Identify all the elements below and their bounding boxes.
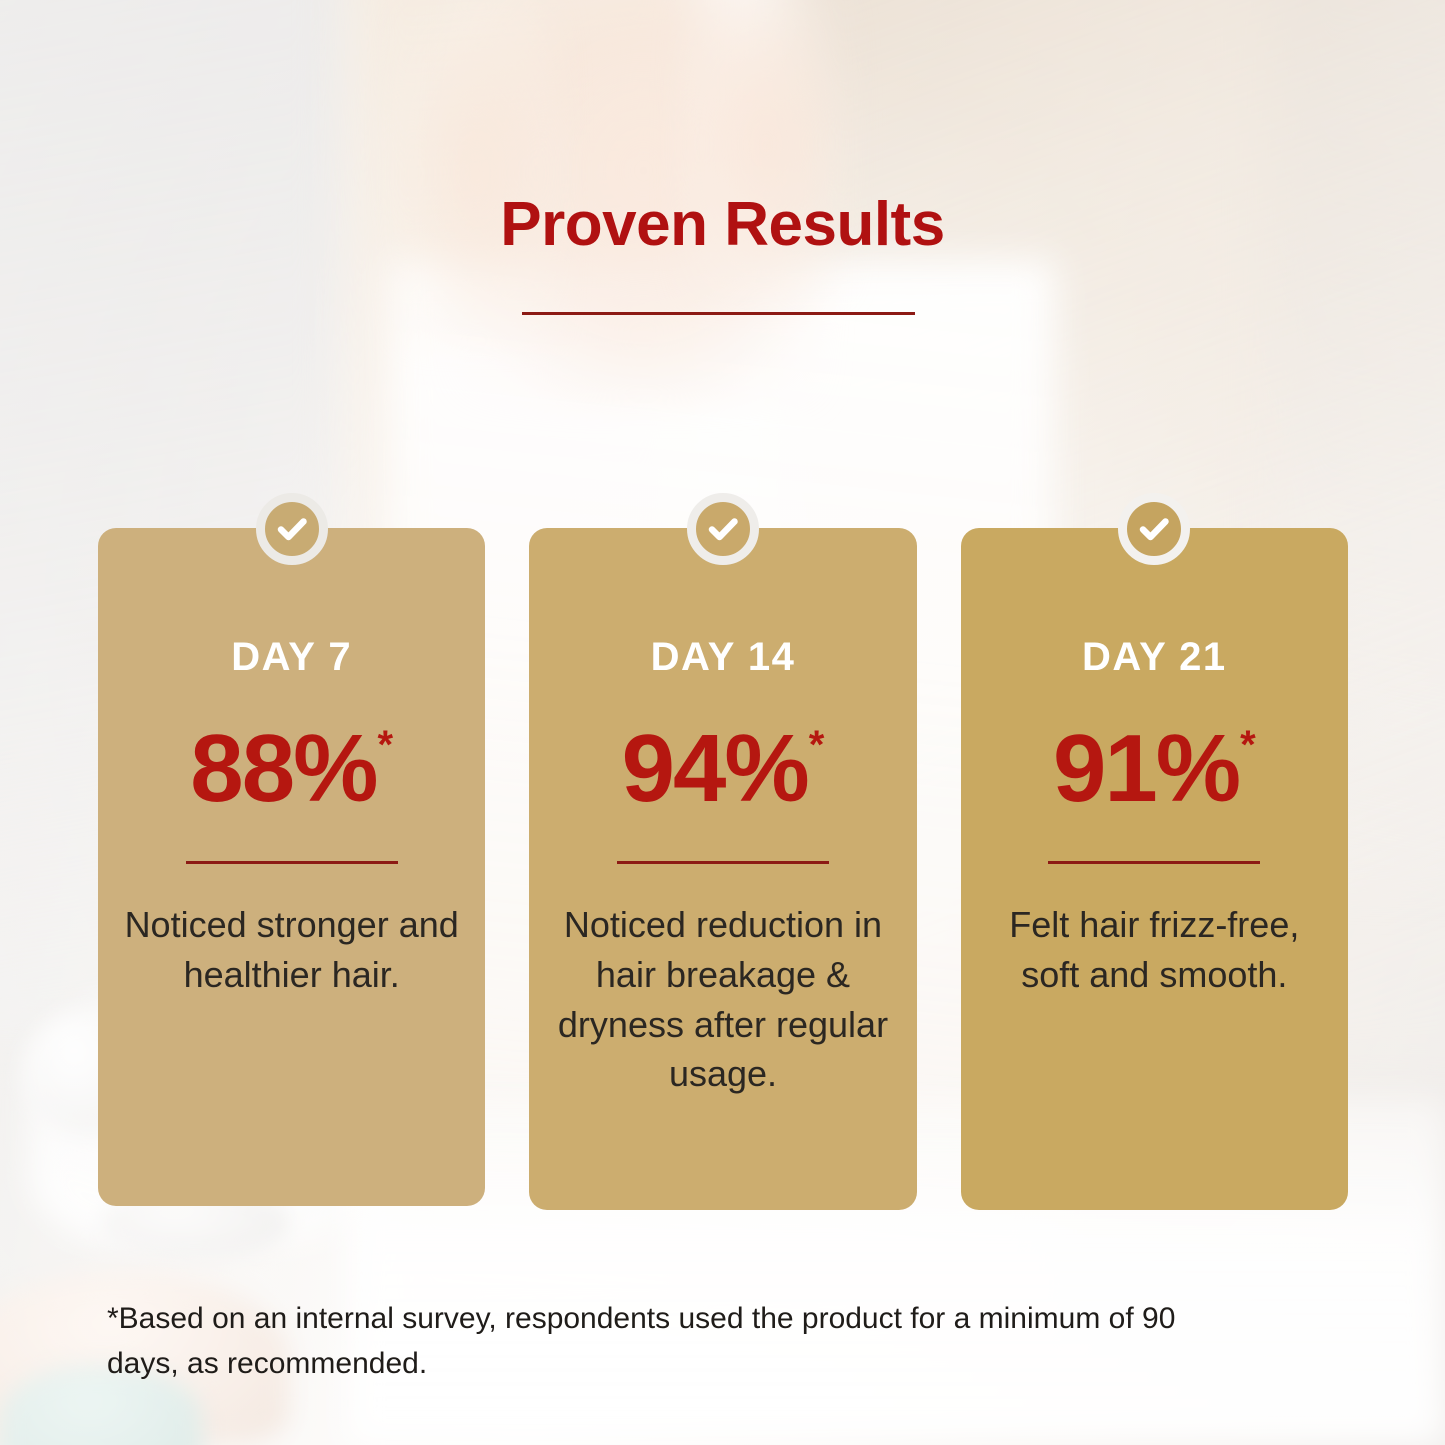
card-body-text: Noticed stronger and healthier hair. [118, 900, 465, 999]
result-card-day-14: DAY 14 94% * Noticed reduction in hair b… [529, 528, 916, 1210]
proven-results-infographic: Proven Results DAY 7 88% * Noticed stron… [0, 0, 1445, 1445]
percent-asterisk: * [377, 725, 393, 765]
result-card-day-7: DAY 7 88% * Noticed stronger and healthi… [98, 528, 485, 1206]
percent-stat: 94% * [549, 723, 896, 814]
day-label: DAY 14 [549, 637, 896, 677]
check-icon [256, 493, 328, 565]
percent-value: 91% [1053, 723, 1239, 814]
check-icon [1118, 493, 1190, 565]
percent-stat: 88% * [118, 723, 465, 814]
title-divider [522, 312, 915, 315]
card-divider [617, 861, 829, 864]
result-card-day-21: DAY 21 91% * Felt hair frizz-free, soft … [961, 528, 1348, 1210]
percent-stat: 91% * [981, 723, 1328, 814]
percent-asterisk: * [809, 725, 825, 765]
day-label: DAY 7 [118, 637, 465, 677]
page-title: Proven Results [0, 189, 1445, 260]
check-icon [687, 493, 759, 565]
card-divider [186, 861, 398, 864]
percent-value: 94% [622, 723, 808, 814]
results-card-row: DAY 7 88% * Noticed stronger and healthi… [98, 528, 1348, 1210]
percent-value: 88% [190, 723, 376, 814]
card-divider [1048, 861, 1260, 864]
footnote-disclaimer: *Based on an internal survey, respondent… [107, 1296, 1227, 1386]
day-label: DAY 21 [981, 637, 1328, 677]
card-body-text: Noticed reduction in hair breakage & dry… [549, 900, 896, 1099]
card-body-text: Felt hair frizz-free, soft and smooth. [981, 900, 1328, 999]
percent-asterisk: * [1240, 725, 1256, 765]
content-layer: Proven Results DAY 7 88% * Noticed stron… [0, 0, 1445, 1445]
